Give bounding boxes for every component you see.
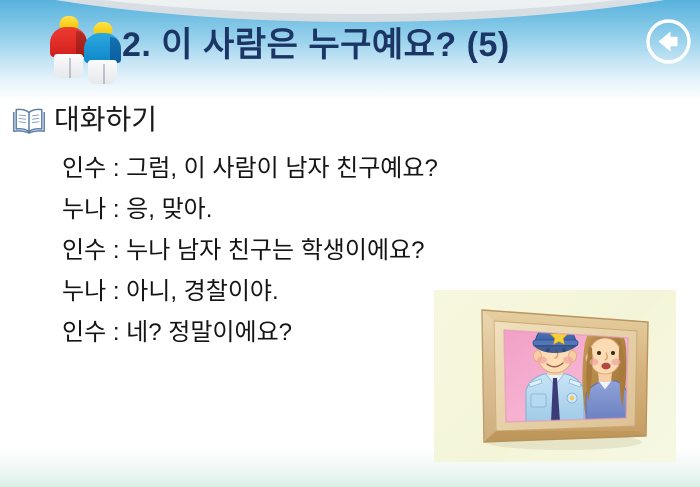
person-body [50, 27, 87, 57]
section-title-label: 대화하기 [54, 106, 157, 134]
person-figure-blue [84, 22, 121, 84]
page-title: 2. 이 사람은 누구예요? (5) [122, 12, 510, 70]
dialogue-line: 인수 : 누나 남자 친구는 학생이에요? [62, 230, 662, 271]
slide-header: 2. 이 사람은 누구예요? (5) [0, 0, 700, 100]
slide-root: 2. 이 사람은 누구예요? (5) [0, 0, 700, 487]
dialogue-line: 누나 : 응, 맞아. [62, 189, 662, 230]
person-legs [54, 54, 83, 78]
person-body [84, 33, 121, 63]
section-heading: 대화하기 [12, 106, 157, 134]
person-figure-red [50, 16, 87, 78]
photo-frame-illustration [434, 290, 676, 462]
open-book-icon [12, 107, 46, 134]
person-legs [88, 60, 117, 84]
slide-content: 대화하기 인수 : 그럼, 이 사람이 남자 친구예요? 누나 : 응, 맞아.… [0, 100, 700, 487]
back-arrow-circle-icon[interactable] [645, 18, 692, 65]
dialogue-line: 인수 : 그럼, 이 사람이 남자 친구예요? [62, 148, 662, 189]
